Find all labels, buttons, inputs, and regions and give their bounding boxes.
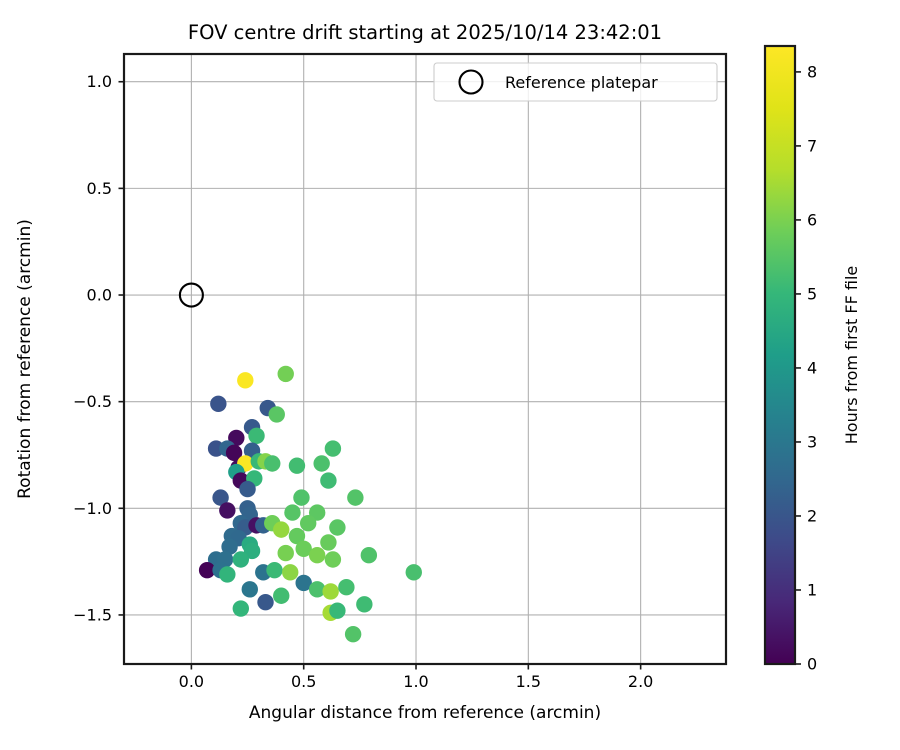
colorbar-tick-label-6: 6 [807,210,817,229]
scatter-point [257,594,273,610]
x-tick-label-2: 1.0 [403,672,428,691]
scatter-point [320,534,336,550]
scatter-point [338,579,354,595]
x-axis-label: Angular distance from reference (arcmin) [249,703,601,723]
y-tick-label-2: 0.0 [87,286,112,305]
legend-entry-label: Reference platepar [505,73,658,92]
scatter-point [210,396,226,412]
scatter-point [329,602,345,618]
scatter-point [248,428,264,444]
scatter-point [356,596,372,612]
scatter-point [347,489,363,505]
scatter-point [325,551,341,567]
scatter-point [313,455,329,471]
y-tick-label-1: 0.5 [87,179,112,198]
y-tick-label-0: 1.0 [87,72,112,91]
scatter-point [242,581,258,597]
x-tick-label-4: 2.0 [628,672,653,691]
scatter-point [300,515,316,531]
colorbar-label: Hours from first FF file [842,266,861,445]
scatter-point [239,481,255,497]
y-tick-label-5: −1.5 [73,605,112,624]
colorbar-tick-label-2: 2 [807,506,817,525]
figure-canvas: FOV centre drift starting at 2025/10/14 … [0,0,900,750]
x-tick-label-3: 1.5 [516,672,541,691]
colorbar-tick-label-1: 1 [807,580,817,599]
y-axis-label: Rotation from reference (arcmin) [15,219,35,499]
scatter-point [361,547,377,563]
scatter-point [237,372,253,388]
colorbar-tick-label-3: 3 [807,432,817,451]
x-tick-label-0: 0.0 [179,672,204,691]
scatter-point [320,472,336,488]
legend[interactable]: Reference platepar [434,63,717,101]
scatter-point [293,489,309,505]
y-tick-label-3: −0.5 [73,392,112,411]
colorbar-tick-label-0: 0 [807,655,817,674]
scatter-point [264,455,280,471]
x-tick-label-1: 0.5 [291,672,316,691]
scatter-point [289,457,305,473]
scatter-point [219,502,235,518]
scatter-point [309,547,325,563]
colorbar-tick-labels: 012345678 [807,62,817,673]
scatter-point [266,562,282,578]
colorbar-tick-label-8: 8 [807,62,817,81]
scatter-point [269,406,285,422]
colorbar-tick-label-7: 7 [807,136,817,155]
scatter-point [284,504,300,520]
colorbar-tick-label-5: 5 [807,284,817,303]
scatter-point [329,519,345,535]
colorbar-gradient [765,46,795,664]
scatter-point [273,521,289,537]
scatter-point [278,545,294,561]
scatter-point [282,564,298,580]
scatter-point [233,551,249,567]
scatter-point [219,566,235,582]
scatter-point [233,600,249,616]
scatter-point [278,366,294,382]
colorbar-tick-label-4: 4 [807,358,817,377]
scatter-point [406,564,422,580]
y-tick-label-4: −1.0 [73,499,112,518]
scatter-point [345,626,361,642]
scatter-plot-svg: FOV centre drift starting at 2025/10/14 … [0,0,900,750]
scatter-point [325,440,341,456]
chart-title: FOV centre drift starting at 2025/10/14 … [188,21,662,44]
scatter-point [273,588,289,604]
scatter-point [322,583,338,599]
